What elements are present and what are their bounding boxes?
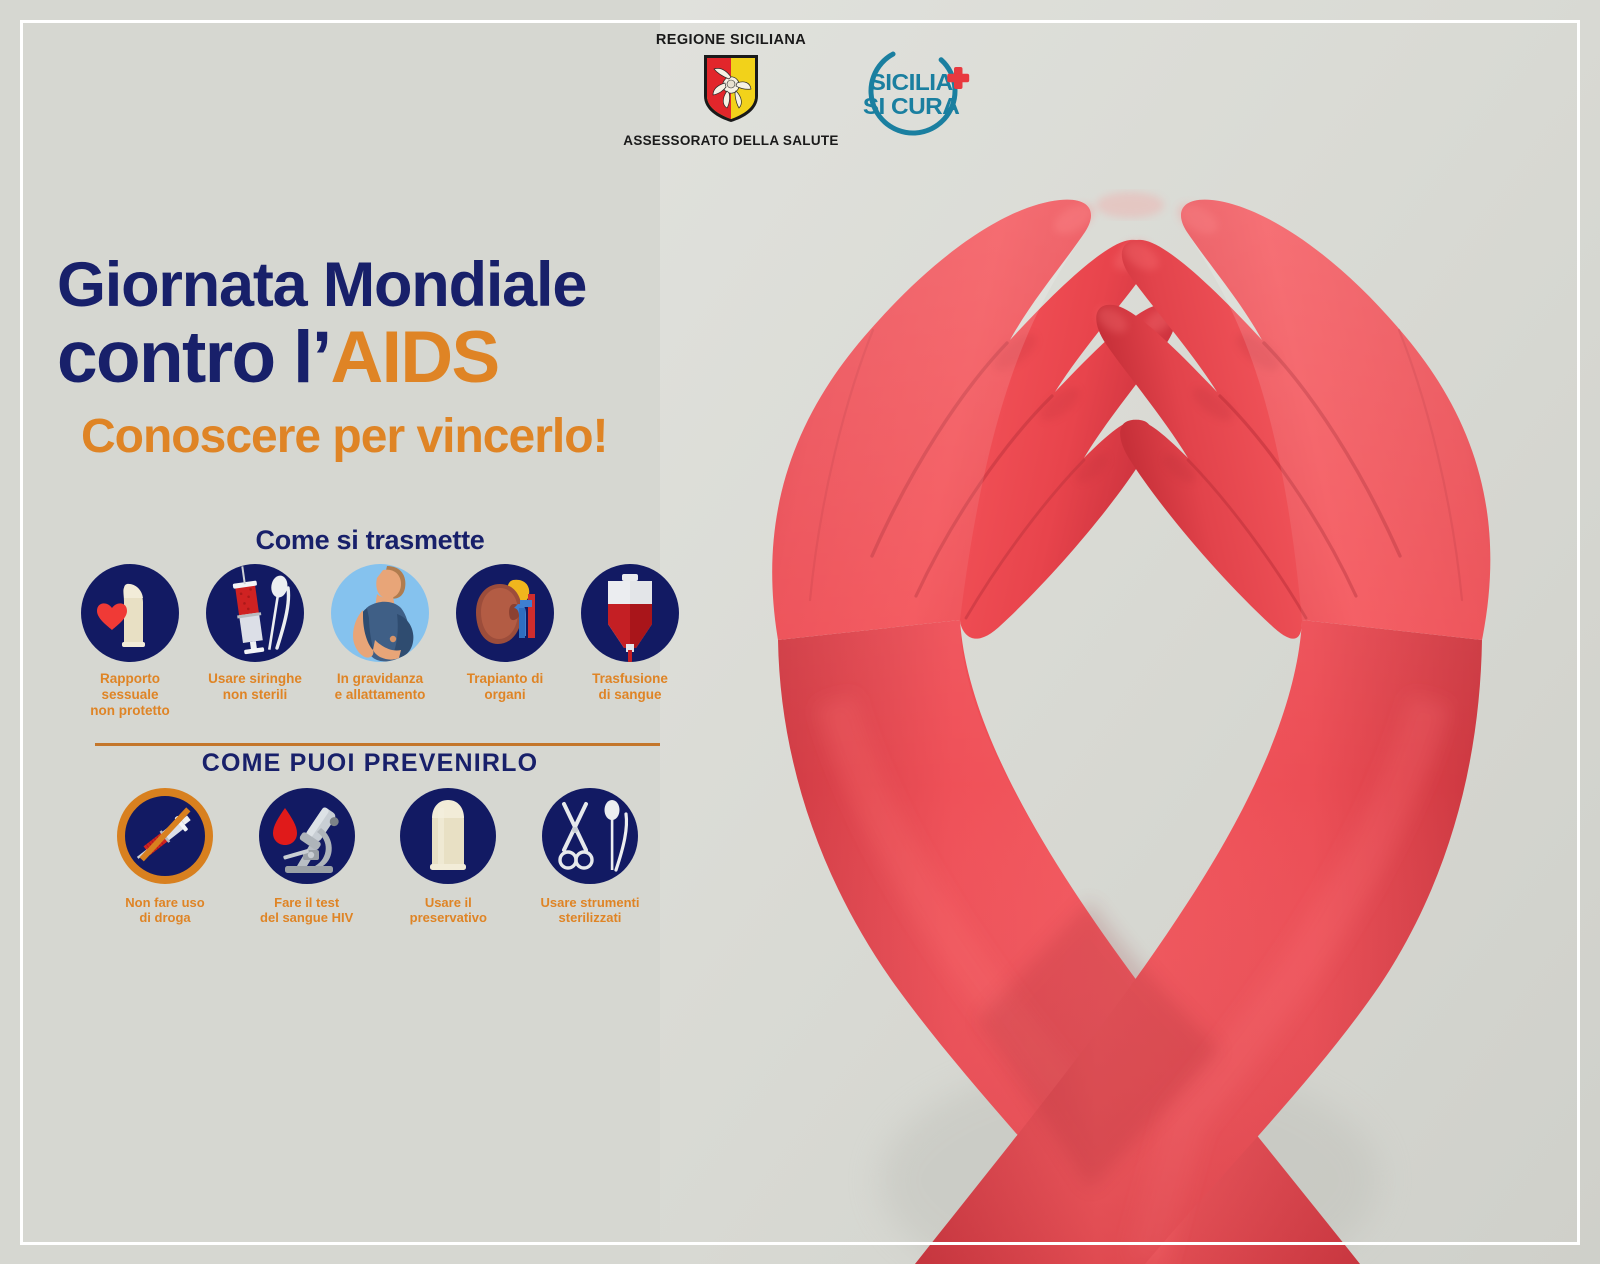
headline-aids-word: AIDS xyxy=(331,317,499,398)
caption: Usare strumenti sterilizzati xyxy=(540,895,639,926)
headline-line2-prefix: contro l’ xyxy=(57,317,331,398)
headline-line2: contro l’AIDS xyxy=(57,320,608,397)
section-divider xyxy=(95,743,660,746)
svg-text:SI CURA: SI CURA xyxy=(863,94,960,119)
headline-tagline: Conoscere per vincerlo! xyxy=(81,413,608,461)
caption: In gravidanza e allattamento xyxy=(335,671,426,703)
headline-line1: Giornata Mondiale xyxy=(57,254,608,317)
condom-icon xyxy=(400,788,496,884)
regione-top-label: REGIONE SICILIANA xyxy=(656,32,806,48)
transmission-item-pregnancy-breastfeeding: In gravidanza e allattamento xyxy=(320,564,440,719)
microscope-blood-icon xyxy=(259,788,355,884)
prevention-item-use-condom: Usare il preservativo xyxy=(388,788,508,926)
caption: Rapporto sessuale non protetto xyxy=(70,671,190,719)
regione-siciliana-logo: REGIONE SICILIANA xyxy=(623,32,838,148)
logo-bar: REGIONE SICILIANA xyxy=(0,32,1600,148)
poster-canvas: REGIONE SICILIANA xyxy=(0,0,1600,1264)
caption: Fare il test del sangue HIV xyxy=(260,895,353,926)
caption: Usare siringhe non sterili xyxy=(208,671,302,703)
blood-bag-icon xyxy=(581,564,679,662)
sicilia-si-cura-logo: SICILIA SI CURA xyxy=(857,38,977,143)
transmission-section-title: Come si trasmette xyxy=(0,525,740,556)
caption: Trapianto di organi xyxy=(467,671,544,703)
prevention-section-title: COME PUOI PREVENIRLO xyxy=(0,749,740,778)
syringe-tools-icon xyxy=(206,564,304,662)
kidney-organ-icon xyxy=(456,564,554,662)
sterile-instruments-icon xyxy=(542,788,638,884)
caption: Trasfusione di sangue xyxy=(592,671,668,703)
caption: Usare il preservativo xyxy=(410,895,487,926)
no-drugs-syringe-icon xyxy=(117,788,213,884)
pregnant-woman-icon xyxy=(331,564,429,662)
transmission-item-blood-transfusion: Trasfusione di sangue xyxy=(570,564,690,719)
condom-heart-icon xyxy=(81,564,179,662)
red-hands-ribbon-artwork xyxy=(660,0,1600,1264)
prevention-item-sterile-instruments: Usare strumenti sterilizzati xyxy=(530,788,650,926)
transmission-icon-row: Rapporto sessuale non protetto xyxy=(70,564,690,719)
transmission-item-unprotected-sex: Rapporto sessuale non protetto xyxy=(70,564,190,719)
prevention-item-hiv-blood-test: Fare il test del sangue HIV xyxy=(247,788,367,926)
headline-block: Giornata Mondiale contro l’AIDS Conoscer… xyxy=(57,254,608,461)
transmission-item-non-sterile-syringes: Usare siringhe non sterili xyxy=(195,564,315,719)
transmission-item-organ-transplant: Trapianto di organi xyxy=(445,564,565,719)
prevention-item-no-drugs: Non fare uso di droga xyxy=(105,788,225,926)
prevention-icon-row: Non fare uso di droga xyxy=(105,788,650,926)
caption: Non fare uso di droga xyxy=(125,895,204,926)
assessorato-label: ASSESSORATO DELLA SALUTE xyxy=(623,133,838,148)
trinacria-shield-icon xyxy=(700,52,762,129)
svg-text:SICILIA: SICILIA xyxy=(869,70,952,95)
